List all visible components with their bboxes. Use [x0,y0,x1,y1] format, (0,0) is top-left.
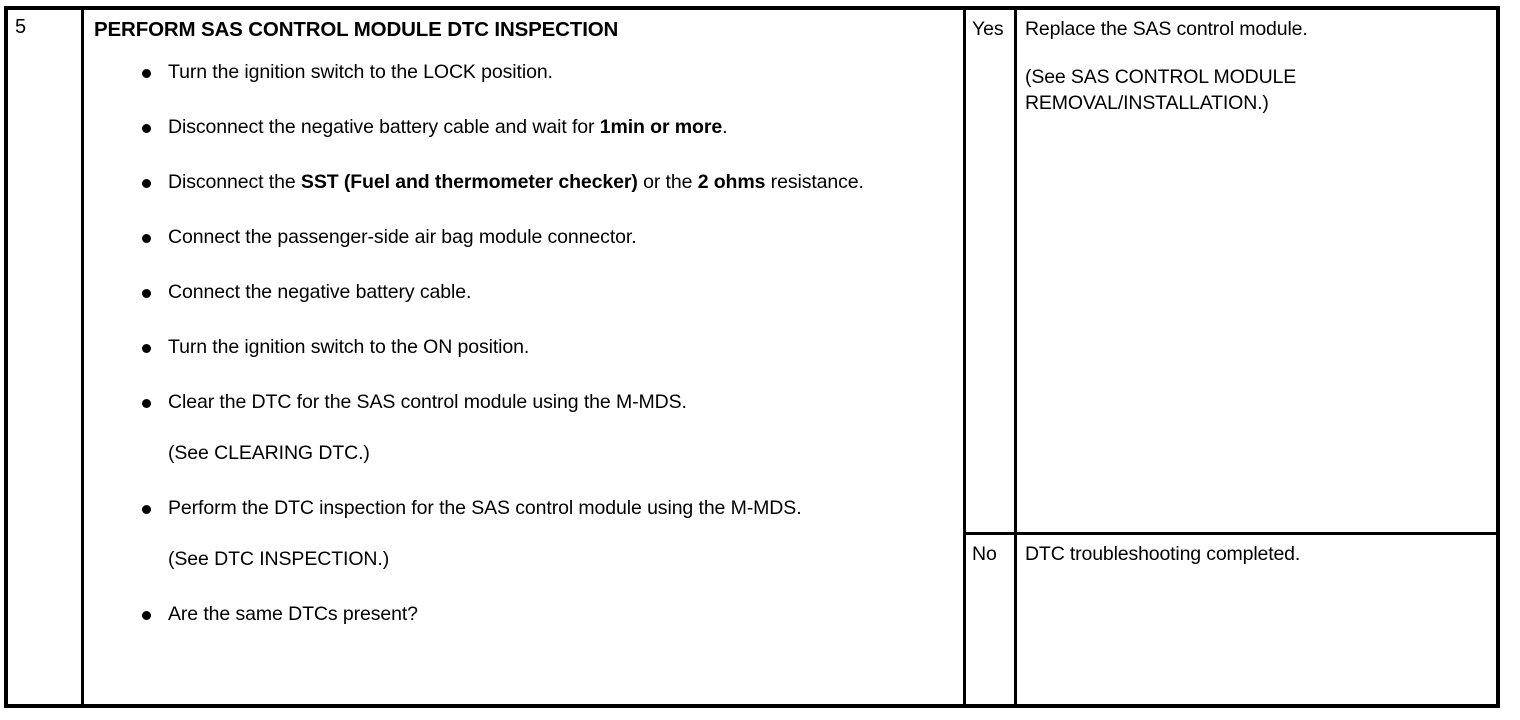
instruction-bullet-text: Turn the ignition switch to the ON posit… [168,336,529,358]
plain-text: or the [638,171,698,193]
plain-text: Are the same DTCs present? [168,603,418,625]
instruction-bullet-text: Perform the DTC inspection for the SAS c… [168,497,802,519]
step-number-cell: 5 [8,10,84,704]
bullet-point-icon [142,179,151,188]
result-action-text: DTC troubleshooting completed. [1025,541,1488,567]
instruction-bullet: Disconnect the SST (Fuel and thermometer… [94,168,949,197]
instruction-bullet-text: Disconnect the negative battery cable an… [168,116,727,138]
plain-text: Connect the negative battery cable. [168,281,471,303]
result-reference-note: (See SAS CONTROL MODULEREMOVAL/INSTALLAT… [1025,64,1488,116]
step-instructions-cell: PERFORM SAS CONTROL MODULE DTC INSPECTIO… [84,10,966,704]
emphasized-text: 1min or more [600,116,722,138]
bullet-point-icon [142,399,151,408]
bullet-point-icon [142,611,151,620]
instruction-bullet: Clear the DTC for the SAS control module… [94,388,949,468]
instruction-bullet-text: Disconnect the SST (Fuel and thermometer… [168,171,864,193]
document-page: 5 PERFORM SAS CONTROL MODULE DTC INSPECT… [0,0,1520,720]
result-action-text: Replace the SAS control module. [1025,16,1488,42]
instruction-bullet-text: Are the same DTCs present? [168,603,418,625]
instruction-bullet-text: Clear the DTC for the SAS control module… [168,391,687,413]
instruction-bullet: Perform the DTC inspection for the SAS c… [94,494,949,574]
dtc-inspection-table: 5 PERFORM SAS CONTROL MODULE DTC INSPECT… [4,6,1500,708]
plain-text: Disconnect the negative battery cable an… [168,116,600,138]
plain-text: Perform the DTC inspection for the SAS c… [168,497,802,519]
result-answer-label: No [966,535,1017,704]
plain-text: . [722,116,727,138]
result-reference-line: REMOVAL/INSTALLATION.) [1025,90,1488,116]
instruction-bullet: Connect the negative battery cable. [94,278,949,307]
result-reference-line: (See SAS CONTROL MODULE [1025,64,1488,90]
instruction-bullet-text: Connect the passenger-side air bag modul… [168,226,637,248]
instruction-bullet: Disconnect the negative battery cable an… [94,113,949,142]
bullet-point-icon [142,344,151,353]
step-heading: PERFORM SAS CONTROL MODULE DTC INSPECTIO… [94,18,949,42]
plain-text: Connect the passenger-side air bag modul… [168,226,637,248]
plain-text: Disconnect the [168,171,301,193]
instruction-bullet: Connect the passenger-side air bag modul… [94,223,949,252]
instruction-bullet: Turn the ignition switch to the LOCK pos… [94,58,949,87]
result-row-no: NoDTC troubleshooting completed. [966,535,1496,704]
instruction-bullet-text: Turn the ignition switch to the LOCK pos… [168,61,553,83]
plain-text: Turn the ignition switch to the LOCK pos… [168,61,553,83]
bullet-point-icon [142,234,151,243]
emphasized-text: SST (Fuel and thermometer checker) [301,171,638,193]
plain-text: Turn the ignition switch to the ON posit… [168,336,529,358]
emphasized-text: 2 ohms [698,171,766,193]
instruction-reference-note: (See CLEARING DTC.) [168,439,949,468]
instruction-bullet-list: Turn the ignition switch to the LOCK pos… [94,58,949,629]
bullet-point-icon [142,505,151,514]
instruction-bullet: Turn the ignition switch to the ON posit… [94,333,949,362]
bullet-point-icon [142,124,151,133]
plain-text: resistance. [765,171,864,193]
instruction-bullet: Are the same DTCs present? [94,600,949,629]
instruction-reference-note: (See DTC INSPECTION.) [168,545,949,574]
instruction-bullet-text: Connect the negative battery cable. [168,281,471,303]
step-number: 5 [15,16,81,38]
result-action-cell: Replace the SAS control module.(See SAS … [1017,10,1496,532]
plain-text: Clear the DTC for the SAS control module… [168,391,687,413]
result-row-yes: YesReplace the SAS control module.(See S… [966,10,1496,535]
bullet-point-icon [142,289,151,298]
result-action-cell: DTC troubleshooting completed. [1017,535,1496,704]
bullet-point-icon [142,69,151,78]
result-answer-label: Yes [966,10,1017,532]
result-column: YesReplace the SAS control module.(See S… [966,10,1496,704]
